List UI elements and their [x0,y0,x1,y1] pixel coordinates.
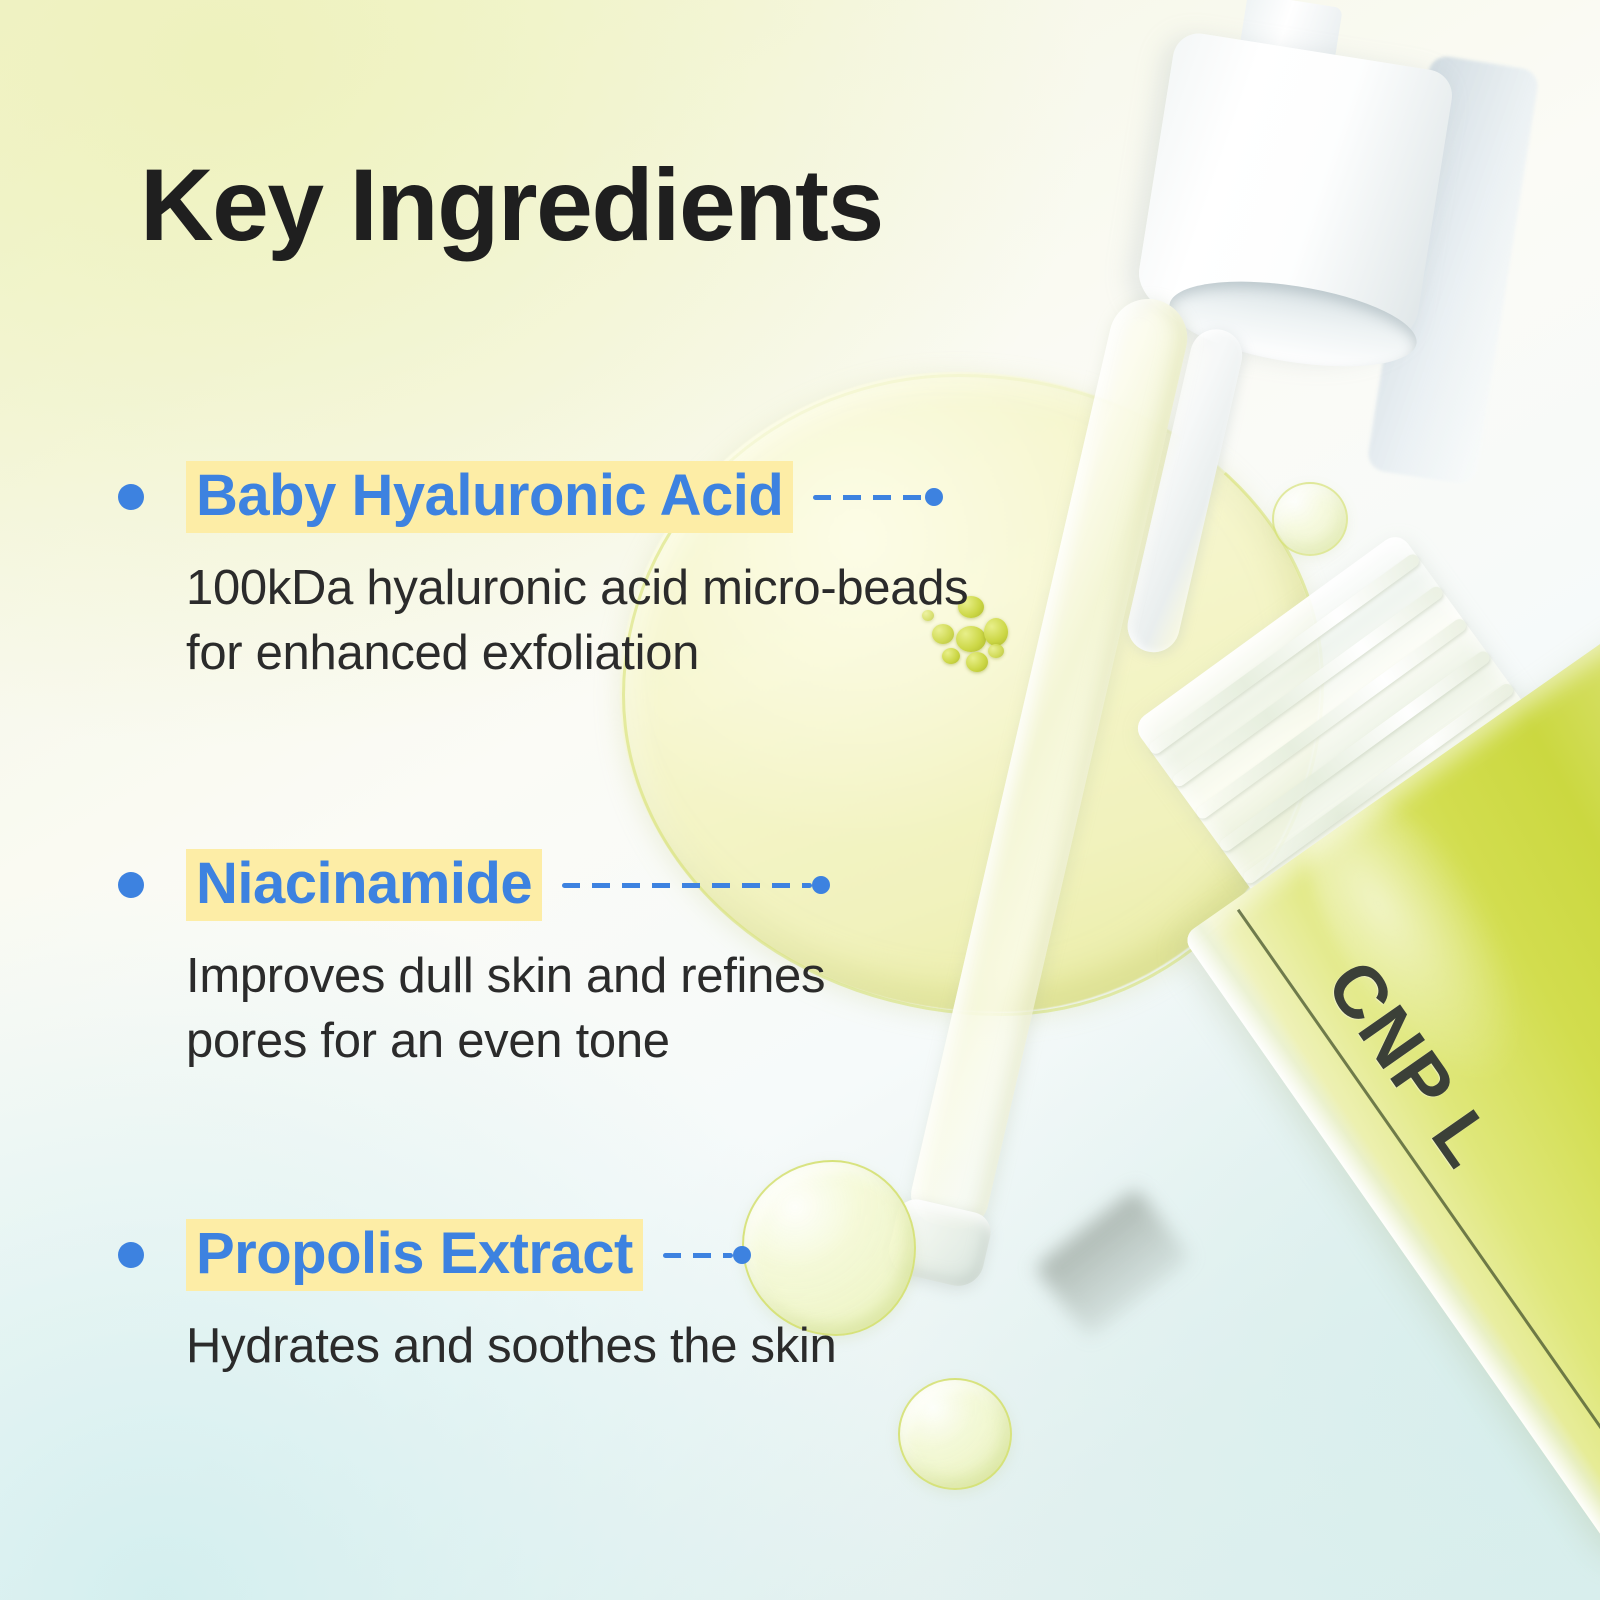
bullet-dot-icon [118,484,144,510]
serum-droplet [1272,482,1348,556]
bottle-neck-threads [1132,531,1552,935]
ingredient-item: Baby Hyaluronic Acid 100kDa hyaluronic a… [118,460,968,685]
dashed-connector-line [562,883,812,888]
glass-pipette-tip [905,291,1195,1234]
micro-bead [966,652,988,672]
bottle-thread [1194,617,1469,821]
ingredient-item: Niacinamide Improves dull skin and refin… [118,848,825,1073]
bottle-edge-line [1237,909,1600,1501]
ingredient-name: Baby Hyaluronic Acid [186,461,793,534]
ingredient-description: 100kDa hyaluronic acid micro-beads for e… [186,556,968,685]
serum-bottle: CNP L [1182,616,1600,1560]
ingredient-header-row: Baby Hyaluronic Acid [118,460,968,534]
micro-bead [988,644,1004,658]
glass-pipette [905,291,1195,1234]
bottle-thread [1147,552,1422,756]
dashed-connector-line [813,495,925,500]
dropper-cap [1130,30,1455,370]
dropper-upper-stem [1122,324,1247,657]
ingredient-description: Improves dull skin and refines pores for… [186,944,825,1073]
ingredient-header-row: Propolis Extract [118,1218,836,1292]
ingredient-name: Propolis Extract [186,1219,643,1292]
ingredient-header-row: Niacinamide [118,848,825,922]
bottle-thread [1241,681,1516,885]
micro-bead [984,618,1008,646]
dashed-line-end-dot-icon [733,1246,751,1264]
ingredient-item: Propolis Extract Hydrates and soothes th… [118,1218,836,1379]
bullet-dot-icon [118,1242,144,1268]
dashed-connector-line [663,1253,733,1258]
bullet-dot-icon [118,872,144,898]
ingredient-name: Niacinamide [186,849,542,922]
bottle-glass-edge [1182,917,1600,1559]
bottle-thread [1217,649,1492,853]
infographic-canvas: CNP L Key Ingredients Baby Hyaluronic Ac… [0,0,1600,1600]
dropper-cap-rim [1164,267,1423,381]
ingredient-description: Hydrates and soothes the skin [186,1314,836,1379]
background-bottle-blur [1366,54,1540,486]
dropper-cap-stem [1229,0,1343,127]
bottle-highlight [1263,757,1575,1113]
bottle-thread [1170,584,1445,788]
brand-logo-text: CNP L [1310,945,1512,1183]
dashed-line-end-dot-icon [812,876,830,894]
dashed-line-end-dot-icon [925,488,943,506]
pipette-drop-shadow [1034,1188,1192,1339]
serum-droplet [898,1378,1012,1490]
page-title: Key Ingredients [140,152,883,259]
